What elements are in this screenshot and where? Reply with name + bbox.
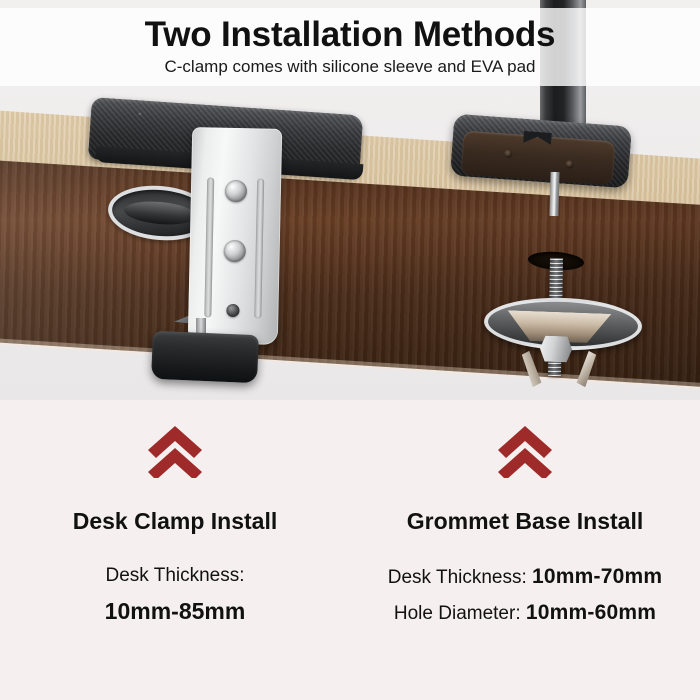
methods-section: Desk Clamp Install Desk Thickness: 10mm-…: [0, 400, 700, 700]
bracket-screw-lower: [223, 240, 245, 262]
method-desk-clamp: Desk Clamp Install Desk Thickness: 10mm-…: [0, 400, 350, 628]
grommet-plate-notch: [523, 131, 552, 145]
grommet-hex-nut: [540, 335, 573, 362]
method-title-desk-clamp: Desk Clamp Install: [0, 508, 350, 536]
page-subtitle: C-clamp comes with silicone sleeve and E…: [164, 58, 535, 77]
spec-list-desk-clamp: Desk Thickness: 10mm-85mm: [0, 562, 350, 629]
silicone-sleeve-inner: [123, 199, 197, 227]
bracket-screw-upper: [225, 180, 247, 202]
spec-value-hole-diameter: 10mm-60mm: [526, 601, 656, 624]
infographic-root: Two Installation Methods C-clamp comes w…: [0, 0, 700, 700]
grommet-plate-hole-2: [565, 160, 574, 169]
double-chevron-up-icon-right: [350, 422, 700, 478]
page-title: Two Installation Methods: [145, 17, 556, 54]
bracket-slot-left: [204, 177, 214, 317]
method-title-grommet-base: Grommet Base Install: [350, 508, 700, 536]
header-banner: Two Installation Methods C-clamp comes w…: [0, 8, 700, 86]
clamp-knob: [151, 331, 259, 383]
spec-label-desk-thickness: Desk Thickness:: [0, 562, 350, 590]
spec-label-hole-diameter: Hole Diameter:: [394, 603, 521, 624]
spec-value-desk-thickness: 10mm-85mm: [0, 595, 350, 628]
clamp-bracket-plate: [188, 127, 283, 345]
spec-list-grommet-base: Desk Thickness: 10mm-70mm Hole Diameter:…: [350, 562, 700, 629]
bracket-slot-right: [254, 178, 264, 318]
spec-row-desk-thickness: Desk Thickness: 10mm-70mm: [350, 562, 700, 592]
spec-value-desk-thickness: 10mm-70mm: [532, 565, 662, 588]
spec-row-hole-diameter: Hole Diameter: 10mm-60mm: [350, 598, 700, 628]
grommet-bolt-upper: [549, 172, 559, 216]
double-chevron-up-icon-left: [0, 422, 350, 478]
method-grommet-base: Grommet Base Install Desk Thickness: 10m…: [350, 400, 700, 634]
grommet-plate-hole-1: [504, 150, 513, 159]
bracket-pin: [226, 304, 239, 317]
spec-label-desk-thickness: Desk Thickness:: [388, 567, 527, 588]
